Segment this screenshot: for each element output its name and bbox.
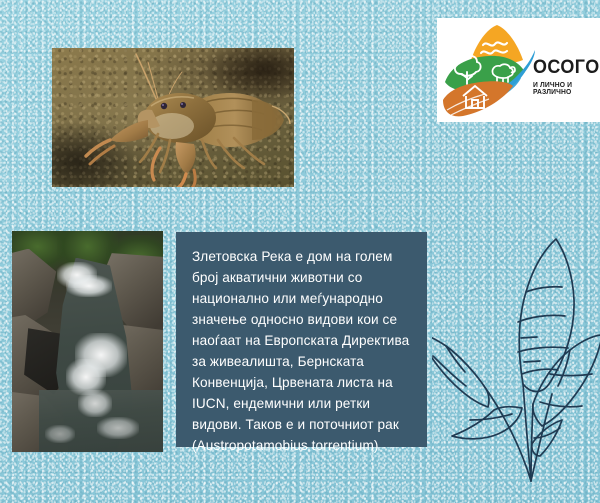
description-body-text: Злетовска Река е дом на голем број акват… xyxy=(192,246,412,456)
logo-name-text: ОСОГОВО xyxy=(533,58,594,78)
crayfish-eye-left xyxy=(180,102,186,108)
river-foam-bottom xyxy=(97,417,139,439)
crayfish-claw-right xyxy=(152,142,196,187)
river-foam-upper xyxy=(66,275,111,297)
crayfish-claw-left xyxy=(86,120,148,164)
crayfish-subject xyxy=(52,48,294,187)
crayfish-eye-right xyxy=(161,103,167,109)
river-foam-bottom-left xyxy=(45,425,75,443)
slide-canvas: Злетовска Река е дом на голем број акват… xyxy=(0,0,600,503)
river-gorge-photo xyxy=(12,231,163,452)
description-text-panel: Злетовска Река е дом на голем број акват… xyxy=(176,232,427,447)
osogovo-wordmark: ОСОГОВО И ЛИЧНО И РАЗЛИЧНО xyxy=(533,58,599,96)
osogovo-landscape-logo-icon xyxy=(441,20,537,120)
river-foam-lower xyxy=(78,390,111,417)
logo-tagline-text: И ЛИЧНО И РАЗЛИЧНО xyxy=(533,82,596,96)
crayfish-photo xyxy=(52,48,294,187)
osogovo-logo-panel: ОСОГОВО И ЛИЧНО И РАЗЛИЧНО xyxy=(437,18,600,122)
